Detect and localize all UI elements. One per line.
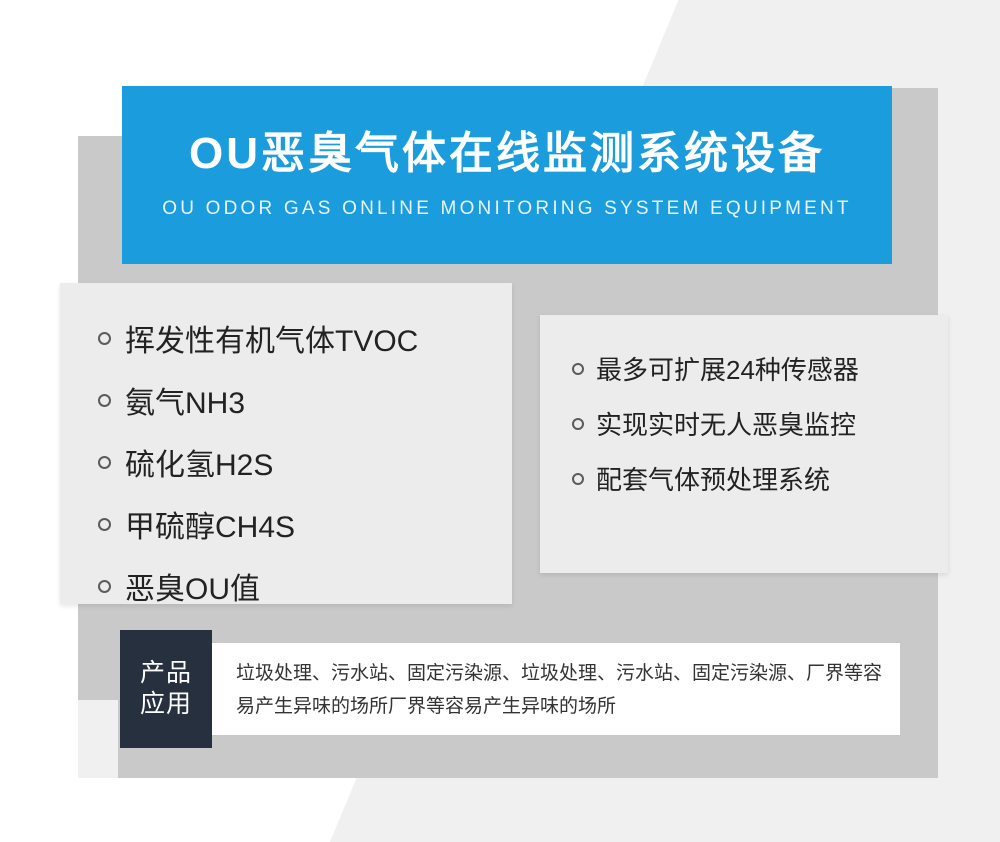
application-tag-line1: 产品 [140,658,192,689]
title-banner: OU恶臭气体在线监测系统设备 OU ODOR GAS ONLINE MONITO… [122,86,892,264]
feature-label: 恶臭OU值 [125,564,260,608]
application-text: 垃圾处理、污水站、固定污染源、垃圾处理、污水站、固定污染源、厂界等容易产生异味的… [230,643,900,735]
feature-label: 甲硫醇CH4S [125,502,295,546]
circle-bullet-icon [98,394,111,407]
list-item: 甲硫醇CH4S [60,493,512,555]
circle-bullet-icon [572,473,584,485]
list-item: 最多可扩展24种传感器 [540,341,948,396]
feature-label: 最多可扩展24种传感器 [596,350,859,387]
circle-bullet-icon [98,518,111,531]
circle-bullet-icon [572,418,584,430]
feature-label: 硫化氢H2S [125,440,273,484]
circle-bullet-icon [98,580,111,593]
circle-bullet-icon [98,456,111,469]
feature-label: 配套气体预处理系统 [596,460,830,497]
circle-bullet-icon [572,363,584,375]
feature-list-right: 最多可扩展24种传感器 实现实时无人恶臭监控 配套气体预处理系统 [540,341,948,506]
list-item: 配套气体预处理系统 [540,451,948,506]
list-item: 挥发性有机气体TVOC [60,307,512,369]
circle-bullet-icon [98,332,111,345]
list-item: 氨气NH3 [60,369,512,431]
banner-title: OU恶臭气体在线监测系统设备 [189,130,825,178]
banner-subtitle: OU ODOR GAS ONLINE MONITORING SYSTEM EQU… [162,198,851,220]
feature-box-right: 最多可扩展24种传感器 实现实时无人恶臭监控 配套气体预处理系统 [540,315,948,573]
application-tag-line2: 应用 [140,689,192,720]
background-notch-bottom-left [78,700,118,778]
feature-label: 挥发性有机气体TVOC [125,316,418,360]
feature-list-left: 挥发性有机气体TVOC 氨气NH3 硫化氢H2S 甲硫醇CH4S 恶臭OU值 [60,307,512,617]
list-item: 硫化氢H2S [60,431,512,493]
list-item: 恶臭OU值 [60,555,512,617]
application-tag: 产品 应用 [120,630,212,748]
application-strip: 垃圾处理、污水站、固定污染源、垃圾处理、污水站、固定污染源、厂界等容易产生异味的… [120,643,900,735]
feature-box-left: 挥发性有机气体TVOC 氨气NH3 硫化氢H2S 甲硫醇CH4S 恶臭OU值 [60,283,512,604]
feature-label: 氨气NH3 [125,378,245,422]
list-item: 实现实时无人恶臭监控 [540,396,948,451]
feature-label: 实现实时无人恶臭监控 [596,405,856,442]
